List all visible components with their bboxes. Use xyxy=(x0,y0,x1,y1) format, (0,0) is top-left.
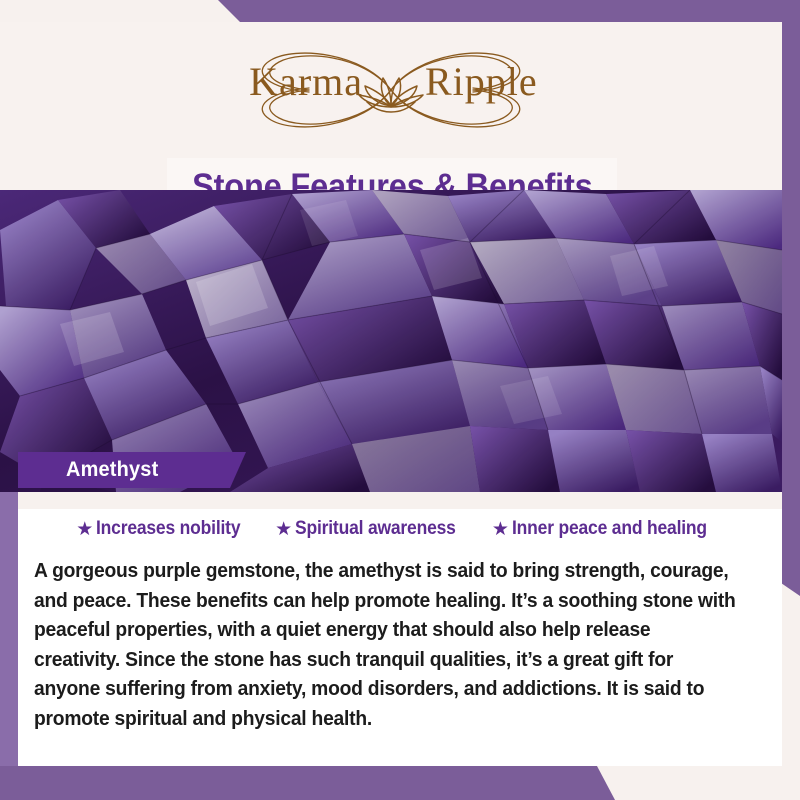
star-icon: ★ xyxy=(275,520,292,539)
star-icon: ★ xyxy=(76,520,93,539)
benefit-item: ★ Inner peace and healing xyxy=(492,518,724,540)
star-icon: ★ xyxy=(492,520,509,539)
frame-band-right xyxy=(781,0,800,596)
frame-band-top-right xyxy=(0,0,800,22)
amethyst-photo xyxy=(0,190,782,492)
benefit-label: Spiritual awareness xyxy=(295,518,456,540)
stone-name-banner: Amethyst xyxy=(18,452,246,488)
brand-name-left: Karma xyxy=(213,62,363,102)
benefit-item: ★ Increases nobility xyxy=(76,518,253,540)
panel-top-strip xyxy=(18,492,782,509)
benefit-item: ★ Spiritual awareness xyxy=(275,518,470,540)
benefit-label: Increases nobility xyxy=(96,518,240,540)
stone-name-label: Amethyst xyxy=(66,458,158,482)
benefits-list: ★ Increases nobility ★ Spiritual awarene… xyxy=(18,518,782,540)
brand-name-right: Ripple xyxy=(425,62,575,102)
header: Karma Ripple Stone Features & Benefits xyxy=(0,22,782,190)
frame-band-left xyxy=(0,492,18,780)
stone-description: A gorgeous purple gemstone, the amethyst… xyxy=(34,556,739,733)
frame-band-bottom xyxy=(0,766,615,800)
brand-logo: Karma Ripple xyxy=(0,40,782,141)
benefit-label: Inner peace and healing xyxy=(512,518,707,540)
product-infographic: Karma Ripple Stone Features & Benefits xyxy=(0,0,800,800)
